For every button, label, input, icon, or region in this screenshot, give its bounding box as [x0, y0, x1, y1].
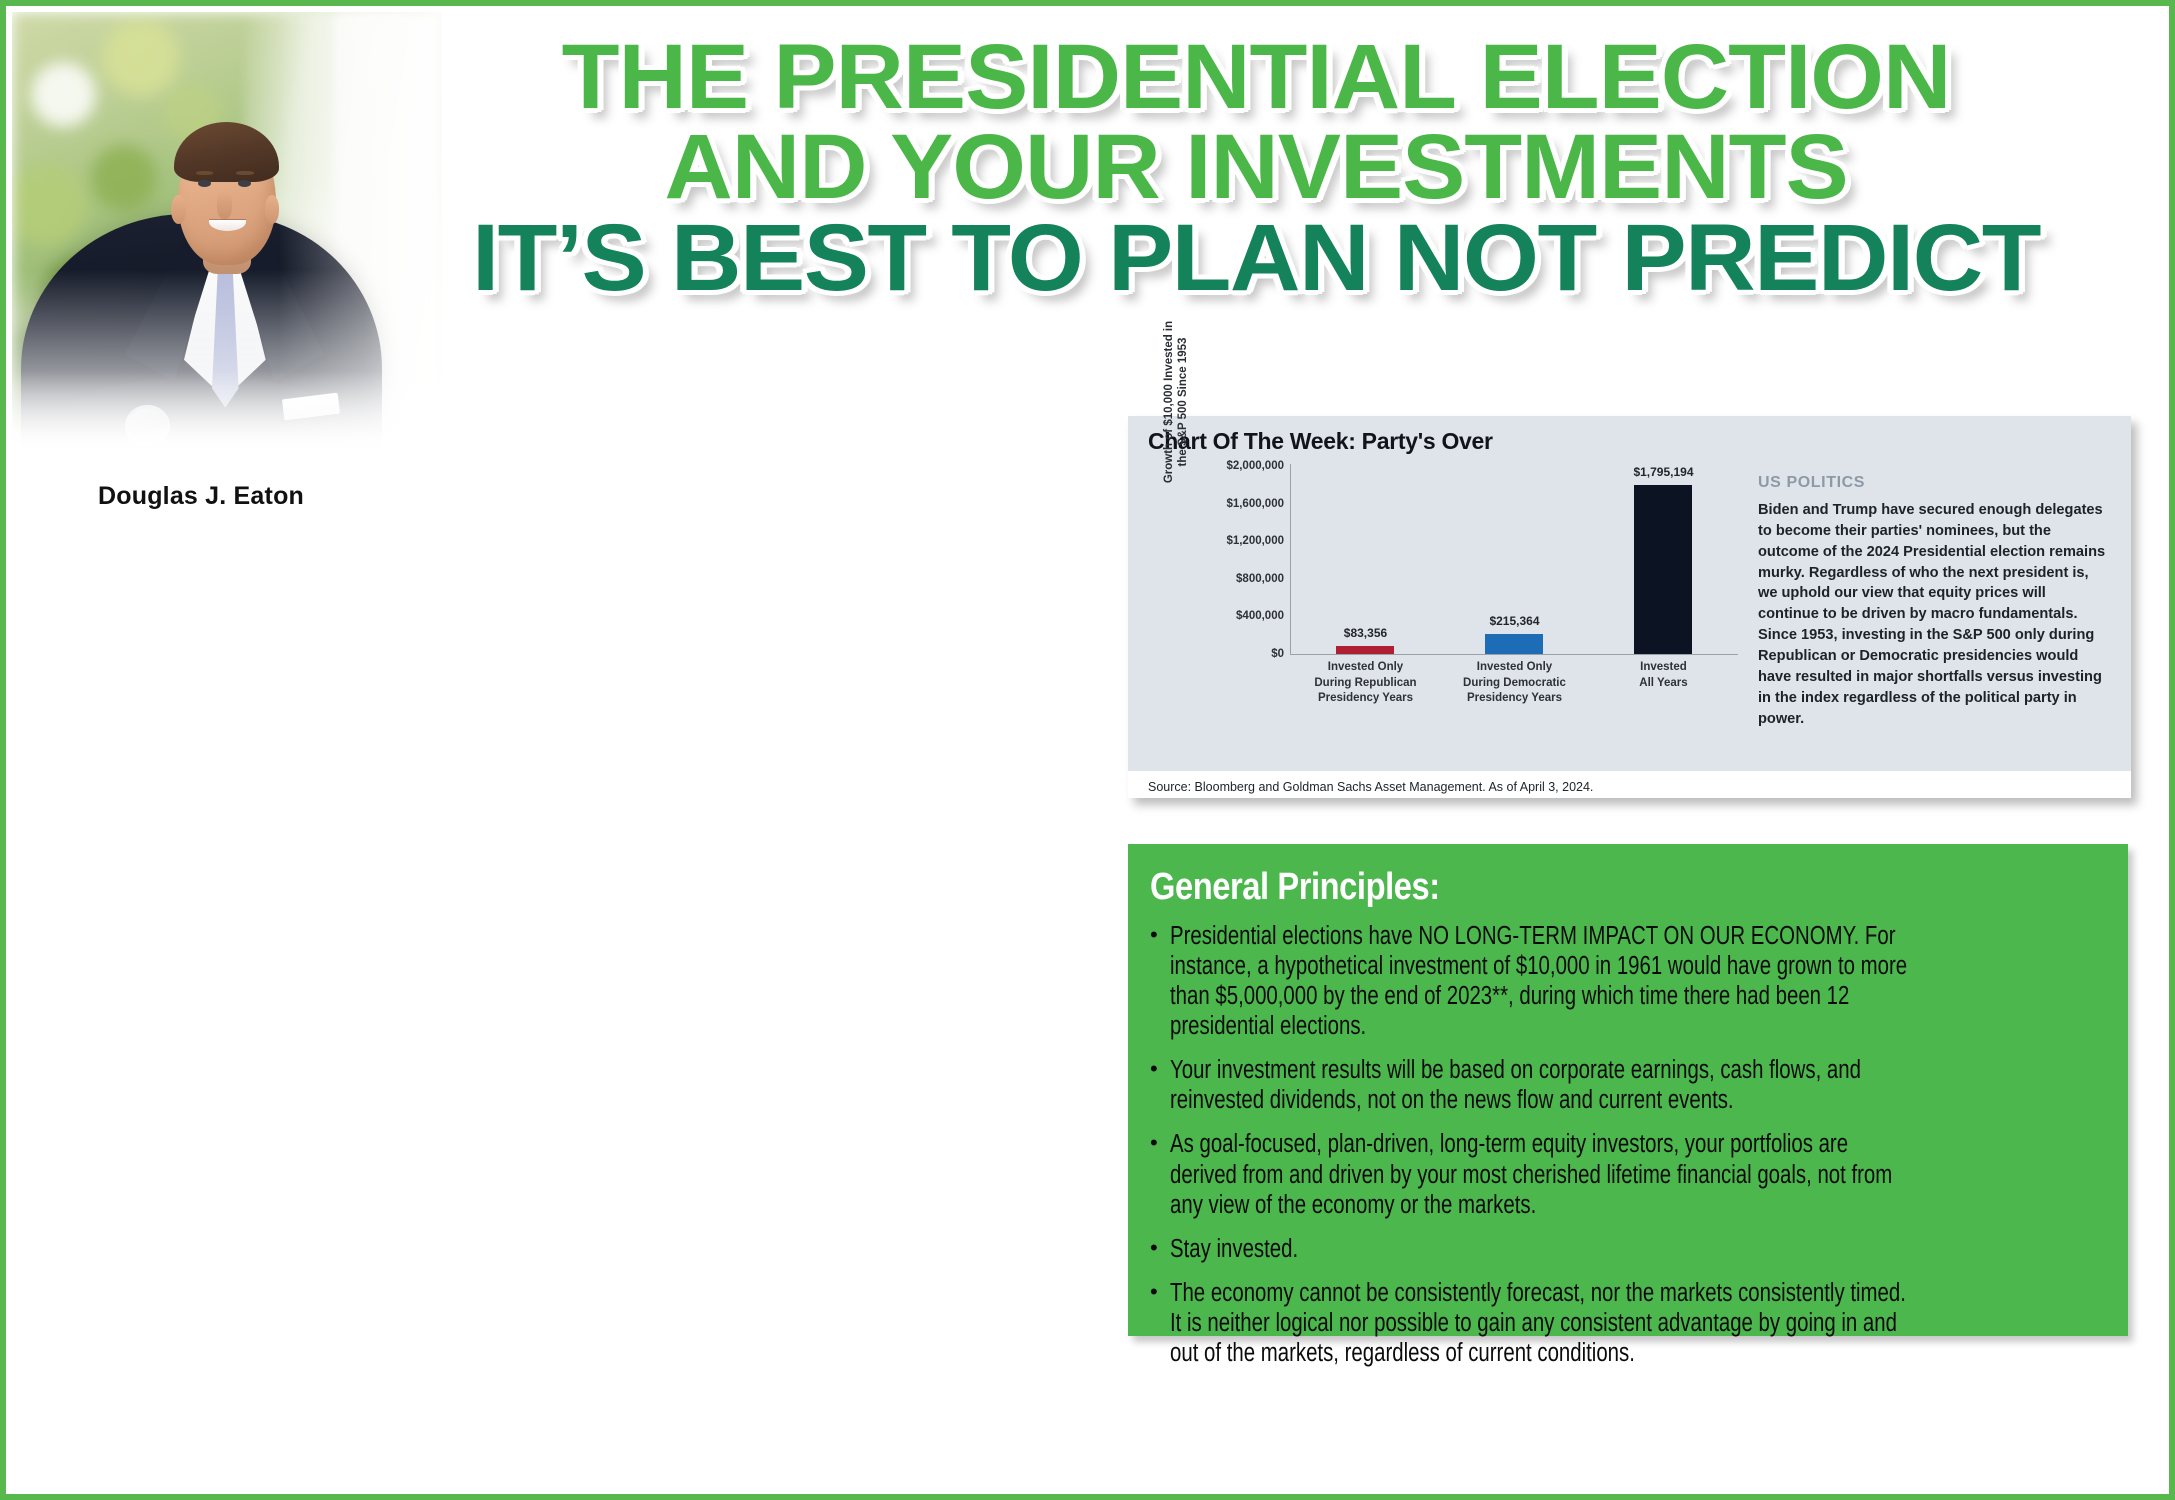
general-principles-item-text: Presidential elections have NO LONG-TERM… [1170, 921, 1919, 1041]
title-line-1: THE PRESIDENTIAL ELECTION [381, 32, 2132, 122]
chart-panel: Chart Of The Week: Party's Over Growth o… [1128, 416, 2131, 771]
page-root: Douglas J. Eaton THE PRESIDENTIAL ELECTI… [0, 0, 2175, 1500]
chart-y-tick: $1,200,000 [1226, 535, 1284, 547]
page-title: THE PRESIDENTIAL ELECTION AND YOUR INVES… [406, 32, 2106, 305]
chart-bar [1485, 634, 1543, 654]
general-principles-item-text: As goal-focused, plan-driven, long-term … [1170, 1129, 1919, 1219]
general-principles-item: •The economy cannot be consistently fore… [1150, 1278, 2106, 1368]
chart-bar-value-label: $215,364 [1489, 614, 1539, 628]
chart-y-tick: $0 [1271, 648, 1284, 660]
chart-bars: $83,356Invested OnlyDuring RepublicanPre… [1291, 466, 1738, 654]
author-name: Douglas J. Eaton [98, 482, 304, 511]
chart-y-tick: $800,000 [1236, 573, 1284, 585]
chart-x-axis-line [1290, 654, 1738, 655]
chart-category-line: During Democratic [1439, 676, 1589, 692]
general-principles-item-text: Stay invested. [1170, 1234, 1919, 1264]
chart-y-axis-label: Growth of $10,000 Invested in the S&P 50… [1162, 312, 1191, 492]
chart-y-axis-ticks: $0$400,000$800,000$1,200,000$1,600,000$2… [1178, 466, 1290, 652]
general-principles-item-text: Your investment results will be based on… [1170, 1055, 1919, 1115]
author-photo [12, 12, 442, 472]
chart-category-line: All Years [1588, 676, 1738, 692]
general-principles-item: •Presidential elections have NO LONG-TER… [1150, 921, 2106, 1041]
chart-bar-group: $1,795,194InvestedAll Years [1589, 466, 1738, 654]
chart-category-label: Invested OnlyDuring RepublicanPresidency… [1290, 660, 1440, 707]
title-line-3: IT’S BEST TO PLAN NOT PREDICT [381, 212, 2132, 305]
chart-bar [1634, 485, 1692, 654]
side-panel-heading: US POLITICS [1758, 474, 2106, 492]
chart-y-tick: $400,000 [1236, 610, 1284, 622]
general-principles-heading: General Principles: [1150, 866, 1972, 909]
chart-bar-value-label: $83,356 [1344, 626, 1387, 640]
chart-heading: Chart Of The Week: Party's Over [1148, 428, 1493, 455]
chart-category-line: Invested [1588, 660, 1738, 676]
chart-category-line: Invested Only [1290, 660, 1440, 676]
general-principles-list: •Presidential elections have NO LONG-TER… [1150, 921, 2106, 1368]
side-panel-body: Biden and Trump have secured enough dele… [1758, 500, 2106, 729]
chart-bar-value-label: $1,795,194 [1633, 465, 1693, 479]
bullet-icon: • [1150, 921, 1170, 949]
chart-source-note: Source: Bloomberg and Goldman Sachs Asse… [1148, 780, 1593, 794]
general-principles-closing: Be well and invest wisely. [1150, 1382, 1934, 1413]
chart-bar-group: $83,356Invested OnlyDuring RepublicanPre… [1291, 466, 1440, 654]
bullet-icon: • [1150, 1129, 1170, 1157]
chart-bar [1336, 646, 1394, 654]
chart-category-label: Invested OnlyDuring DemocraticPresidency… [1439, 660, 1589, 707]
chart-y-tick: $2,000,000 [1226, 460, 1284, 472]
general-principles-item: •Stay invested. [1150, 1234, 2106, 1264]
chart-category-line: Invested Only [1439, 660, 1589, 676]
chart-card: Chart Of The Week: Party's Over Growth o… [1128, 416, 2131, 798]
chart-category-line: During Republican [1290, 676, 1440, 692]
general-principles-item: •Your investment results will be based o… [1150, 1055, 2106, 1115]
chart-y-tick: $1,600,000 [1226, 498, 1284, 510]
general-principles-item-text: The economy cannot be consistently forec… [1170, 1278, 1919, 1368]
general-principles-item: •As goal-focused, plan-driven, long-term… [1150, 1129, 2106, 1219]
photo-edge-fade [12, 12, 442, 472]
bullet-icon: • [1150, 1278, 1170, 1306]
title-line-2: AND YOUR INVESTMENTS [381, 122, 2132, 212]
bullet-icon: • [1150, 1055, 1170, 1083]
chart-category-line: Presidency Years [1290, 691, 1440, 707]
bullet-icon: • [1150, 1234, 1170, 1262]
chart-bar-group: $215,364Invested OnlyDuring DemocraticPr… [1440, 466, 1589, 654]
bar-chart-plot: Growth of $10,000 Invested in the S&P 50… [1150, 466, 1738, 716]
chart-category-line: Presidency Years [1439, 691, 1589, 707]
chart-category-label: InvestedAll Years [1588, 660, 1738, 691]
chart-side-panel: US POLITICS Biden and Trump have secured… [1758, 474, 2106, 729]
general-principles-box: General Principles: •Presidential electi… [1128, 844, 2128, 1336]
